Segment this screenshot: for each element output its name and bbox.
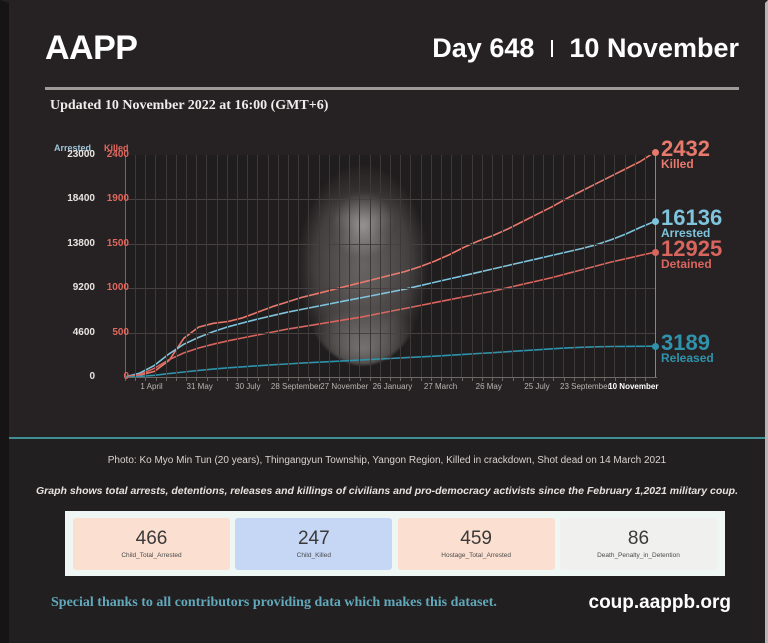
chart: Arrested Killed 230001840013800920046000… [9, 138, 768, 403]
stat-card-value: 86 [628, 528, 649, 550]
y-tick-left: 4600 [33, 327, 95, 338]
x-tick-mark [594, 377, 595, 381]
x-tick-mark [400, 377, 401, 381]
callout-value: 16136 [661, 208, 722, 227]
x-tick-mark [176, 377, 177, 381]
day-label: Day 648 [432, 33, 534, 63]
x-tick-mark [543, 377, 544, 381]
grid-line-vertical [359, 155, 360, 377]
x-tick-label: 10 November [608, 382, 658, 391]
grid-line-vertical [135, 155, 136, 377]
grid-line-vertical [502, 155, 503, 377]
y-tick-left: 0 [33, 371, 95, 382]
x-tick-mark [207, 377, 208, 381]
x-tick-mark [298, 377, 299, 381]
x-tick-mark [482, 377, 483, 381]
separator-bar [551, 40, 553, 57]
x-tick-label: 27 March [424, 382, 457, 391]
x-tick-mark [360, 377, 361, 381]
grid-line-vertical [380, 155, 381, 377]
x-tick-mark [574, 377, 575, 381]
grid-line-vertical [635, 155, 636, 377]
x-tick-mark [186, 377, 187, 381]
grid-line-vertical [472, 155, 473, 377]
x-tick-label: 23 September [560, 382, 610, 391]
x-tick-mark [390, 377, 391, 381]
x-tick-mark [339, 377, 340, 381]
grid-line-vertical [268, 155, 269, 377]
x-tick-mark [564, 377, 565, 381]
grid-line-vertical [543, 155, 544, 377]
grid-line-vertical [604, 155, 605, 377]
grid-line-vertical [512, 155, 513, 377]
x-tick-mark [502, 377, 503, 381]
grid-line-vertical [206, 155, 207, 377]
grid-line-vertical [176, 155, 177, 377]
x-tick-label: 27 November [320, 382, 368, 391]
callout-value: 12925 [661, 239, 722, 258]
callout-released: 3189Released [661, 333, 714, 365]
grid-line-vertical [349, 155, 350, 377]
callout-value: 3189 [661, 333, 714, 352]
x-tick-mark [604, 377, 605, 381]
grid-line-vertical [594, 155, 595, 377]
x-tick-mark [523, 377, 524, 381]
endpoint-dot-killed [652, 149, 659, 156]
x-tick-mark [349, 377, 350, 381]
x-tick-mark [166, 377, 167, 381]
grid-line-vertical [196, 155, 197, 377]
updated-timestamp: Updated 10 November 2022 at 16:00 (GMT+6… [50, 98, 328, 114]
y-tick-right: 500 [99, 327, 129, 338]
grid-line-vertical [563, 155, 564, 377]
y-tick-left: 23000 [33, 149, 95, 160]
callout-value: 2432 [661, 139, 710, 158]
grid-line-vertical [155, 155, 156, 377]
grid-line-vertical [574, 155, 575, 377]
y-tick-right: 1000 [99, 282, 129, 293]
grid-line-vertical [217, 155, 218, 377]
grid-line-vertical [145, 155, 146, 377]
x-tick-mark [625, 377, 626, 381]
grid-line-vertical [584, 155, 585, 377]
x-tick-mark [258, 377, 259, 381]
grid-line-vertical [319, 155, 320, 377]
x-tick-mark [645, 377, 646, 381]
grid-line-vertical [308, 155, 309, 377]
stat-card[interactable]: 86Death_Penalty_in_Detention [560, 518, 717, 570]
day-counter: Day 648 10 November [432, 33, 739, 64]
x-tick-mark [227, 377, 228, 381]
x-tick-mark [451, 377, 452, 381]
y-tick-left: 9200 [33, 282, 95, 293]
x-tick-mark [411, 377, 412, 381]
grid-line-vertical [553, 155, 554, 377]
stat-card-label: Death_Penalty_in_Detention [597, 552, 680, 559]
grid-line-vertical [288, 155, 289, 377]
x-tick-label: 26 May [476, 382, 502, 391]
x-tick-mark [380, 377, 381, 381]
y-tick-left: 13800 [33, 238, 95, 249]
x-tick-mark [635, 377, 636, 381]
y-tick-left: 18400 [33, 193, 95, 204]
grid-line-vertical [400, 155, 401, 377]
grid-line-vertical [625, 155, 626, 377]
grid-line-vertical [339, 155, 340, 377]
x-tick-mark [533, 377, 534, 381]
infographic-poster: AAPP Day 648 10 November Updated 10 Nove… [0, 0, 768, 643]
stat-card-value: 459 [460, 528, 492, 550]
grid-line-vertical [492, 155, 493, 377]
x-tick-mark [135, 377, 136, 381]
x-tick-mark [441, 377, 442, 381]
stat-card[interactable]: 247Child_Killed [235, 518, 392, 570]
grid-line-vertical [257, 155, 258, 377]
y-axis-line [125, 155, 126, 377]
grid-line-vertical [186, 155, 187, 377]
stat-card[interactable]: 459Hostage_Total_Arrested [398, 518, 555, 570]
grid-line-vertical [451, 155, 452, 377]
grid-line-vertical [247, 155, 248, 377]
callout-label: Released [661, 352, 714, 365]
stat-card-label: Child_Killed [297, 552, 331, 559]
grid-line-vertical [533, 155, 534, 377]
grid-line-vertical [298, 155, 299, 377]
x-tick-mark [196, 377, 197, 381]
grid-line-vertical [461, 155, 462, 377]
callout-killed: 2432Killed [661, 139, 710, 171]
x-tick-mark [492, 377, 493, 381]
graph-description: Graph shows total arrests, detentions, r… [9, 485, 765, 497]
x-tick-mark [156, 377, 157, 381]
grid-line-vertical [370, 155, 371, 377]
stat-card-value: 247 [298, 528, 330, 550]
x-tick-mark [615, 377, 616, 381]
x-tick-label: 26 January [373, 382, 413, 391]
stat-card-row: 466Child_Total_Arrested247Child_Killed45… [65, 511, 725, 576]
x-tick-mark [431, 377, 432, 381]
x-tick-mark [268, 377, 269, 381]
brand-title: AAPP [45, 29, 137, 68]
y-tick-right: 2400 [99, 149, 129, 160]
thanks-text: Special thanks to all contributors provi… [51, 595, 497, 611]
date-label: 10 November [569, 33, 739, 63]
x-tick-label: 25 July [524, 382, 549, 391]
x-tick-mark [329, 377, 330, 381]
grid-line-vertical [329, 155, 330, 377]
grid-line-vertical [227, 155, 228, 377]
x-tick-label: 28 September [271, 382, 321, 391]
x-tick-mark [247, 377, 248, 381]
x-tick-mark [472, 377, 473, 381]
header-divider [45, 87, 739, 90]
callout-detained: 12925Detained [661, 239, 722, 271]
stat-card-label: Child_Total_Arrested [121, 552, 181, 559]
grid-line-vertical [410, 155, 411, 377]
header: AAPP Day 648 10 November [45, 29, 739, 87]
website-url[interactable]: coup.aappb.org [589, 592, 732, 614]
plot-area [125, 155, 655, 377]
endpoint-dot-released [652, 343, 659, 350]
grid-line-vertical [645, 155, 646, 377]
x-tick-mark [278, 377, 279, 381]
x-tick-mark [309, 377, 310, 381]
x-tick-mark [462, 377, 463, 381]
endpoint-dot-arrested [652, 218, 659, 225]
x-tick-label: 31 May [187, 382, 213, 391]
x-tick-label: 30 July [235, 382, 260, 391]
x-tick-mark [288, 377, 289, 381]
x-tick-mark [237, 377, 238, 381]
x-tick-mark [370, 377, 371, 381]
y-tick-right: 1500 [99, 238, 129, 249]
x-tick-mark [421, 377, 422, 381]
x-tick-mark [217, 377, 218, 381]
grid-line-vertical [166, 155, 167, 377]
y-tick-right: 0 [99, 371, 129, 382]
grid-line-vertical [237, 155, 238, 377]
grid-line-vertical [421, 155, 422, 377]
grid-line-vertical [431, 155, 432, 377]
x-tick-mark [319, 377, 320, 381]
endpoint-dot-detained [652, 249, 659, 256]
stat-card[interactable]: 466Child_Total_Arrested [73, 518, 230, 570]
photo-caption: Photo: Ko Myo Min Tun (20 years), Thinga… [9, 455, 765, 466]
x-tick-mark [553, 377, 554, 381]
grid-line-vertical [482, 155, 483, 377]
grid-line-vertical [614, 155, 615, 377]
grid-line-vertical [390, 155, 391, 377]
stat-card-value: 466 [136, 528, 168, 550]
stat-card-label: Hostage_Total_Arrested [441, 552, 511, 559]
grid-line-vertical [278, 155, 279, 377]
y-tick-right: 1900 [99, 193, 129, 204]
x-tick-mark [513, 377, 514, 381]
x-tick-mark [145, 377, 146, 381]
x-tick-mark [584, 377, 585, 381]
grid-line-vertical [523, 155, 524, 377]
x-tick-label: 1 April [140, 382, 162, 391]
grid-line-vertical [441, 155, 442, 377]
